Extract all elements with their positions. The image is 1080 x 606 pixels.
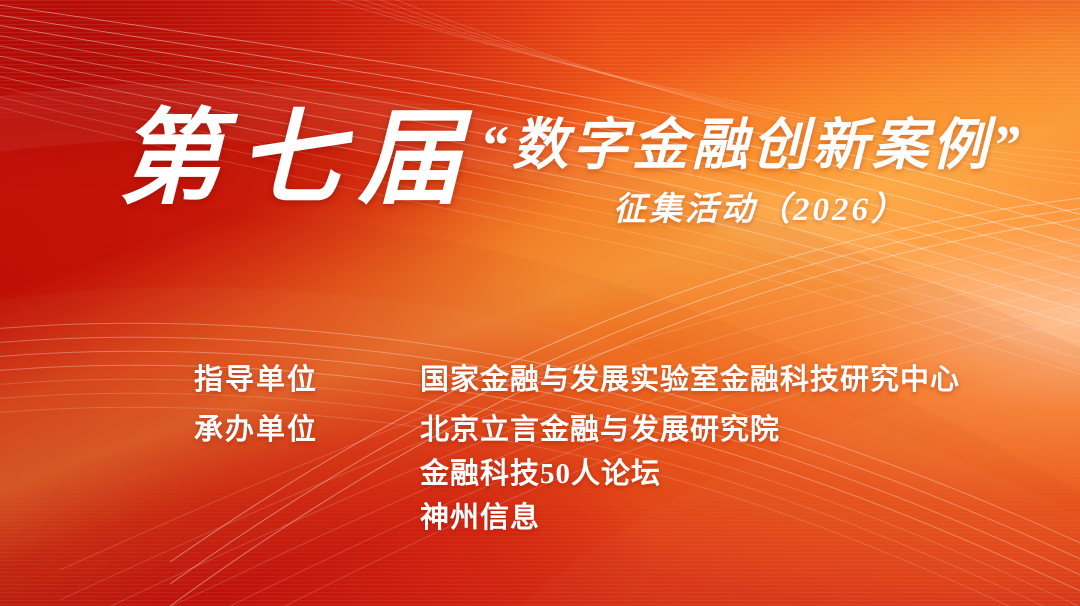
credit-label-organizers: 承办单位 [194,408,420,452]
poster-content: 第七届 “数字金融创新案例” 征集活动（2026） 指导单位 国家金融与发展实验… [0,0,1080,606]
credit-values-guidance: 国家金融与发展实验室金融科技研究中心 [420,358,1034,402]
poster-title-edition: 第七届 [118,108,478,212]
credit-value-organizer-3: 神州信息 [420,496,1034,540]
title-block: 第七届 “数字金融创新案例” 征集活动（2026） [0,104,1080,254]
credit-row-organizers: 承办单位 北京立言金融与发展研究院 金融科技50人论坛 神州信息 [194,408,1034,540]
poster-canvas: 第七届 “数字金融创新案例” 征集活动（2026） 指导单位 国家金融与发展实验… [0,0,1080,606]
credit-value-organizer-1: 北京立言金融与发展研究院 [420,408,1034,452]
credit-row-guidance: 指导单位 国家金融与发展实验室金融科技研究中心 [194,358,1034,402]
poster-title-theme: “数字金融创新案例” [480,118,1024,174]
credit-value-organizer-2: 金融科技50人论坛 [420,452,1034,496]
credit-value-guidance-1: 国家金融与发展实验室金融科技研究中心 [420,358,1034,402]
poster-subtitle-campaign-year: 征集活动（2026） [613,194,907,227]
credits-block: 指导单位 国家金融与发展实验室金融科技研究中心 承办单位 北京立言金融与发展研究… [194,358,1034,546]
credit-values-organizers: 北京立言金融与发展研究院 金融科技50人论坛 神州信息 [420,408,1034,540]
credit-label-guidance: 指导单位 [194,358,420,402]
